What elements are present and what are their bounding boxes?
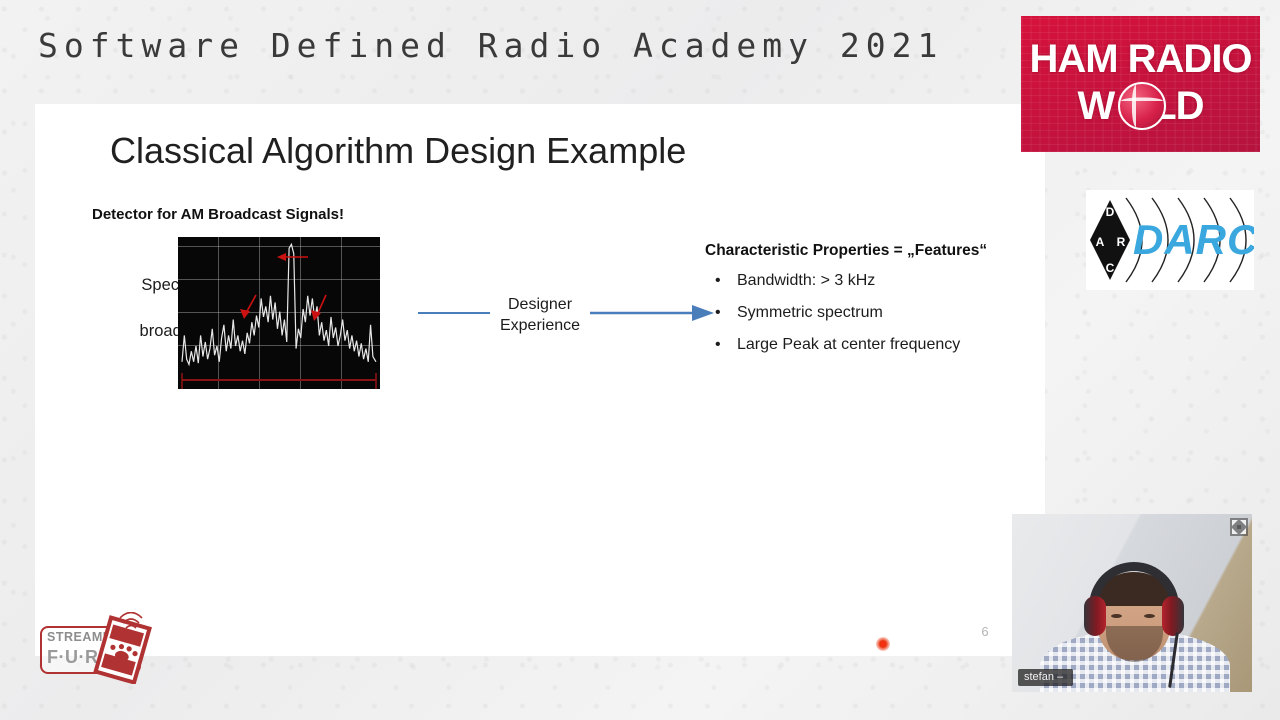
slide-number: 6 <box>955 624 1015 639</box>
feature-item: •Bandwidth: > 3 kHz <box>715 272 875 290</box>
flow-arrow-right <box>590 304 715 322</box>
ham-logo-line-1: HAM RADIO <box>1021 37 1260 82</box>
svg-text:C: C <box>1106 261 1115 275</box>
globe-icon <box>1118 82 1166 130</box>
feature-item: •Symmetric spectrum <box>715 304 883 322</box>
participant-eye-right <box>1144 614 1155 618</box>
annotation-arrow-peak-head <box>277 253 286 261</box>
darc-logo: D A R C DARC <box>1086 190 1254 290</box>
svg-text:A: A <box>1096 235 1105 249</box>
annotation-arrow-right-line <box>317 295 326 315</box>
bullet-icon: • <box>715 272 737 290</box>
bullet-icon: • <box>715 336 737 354</box>
feature-item: •Large Peak at center frequency <box>715 336 960 354</box>
presentation-screen: Software Defined Radio Academy 2021 Clas… <box>0 0 1280 720</box>
film-strip-icon <box>40 612 165 684</box>
flow-label-line-2: Experience <box>490 315 590 336</box>
svg-text:R: R <box>1117 235 1126 249</box>
headphones-earcup-left <box>1084 596 1106 636</box>
streaming-furs-logo: STREAMING F·U·R·S <box>40 612 165 684</box>
ham-radio-world-logo: HAM RADIO W RLD <box>1021 16 1260 152</box>
bullet-icon: • <box>715 304 737 322</box>
spectrum-chart <box>178 237 380 389</box>
fullscreen-icon[interactable] <box>1230 518 1248 536</box>
laser-pointer-dot <box>876 637 890 651</box>
svg-text:D: D <box>1106 205 1115 219</box>
flow-label-line-1: Designer <box>490 294 590 315</box>
annotation-arrow-left-line <box>246 295 256 313</box>
slide-subtitle: Detector for AM Broadcast Signals! <box>92 206 344 223</box>
page-title: Software Defined Radio Academy 2021 <box>38 26 943 65</box>
feature-label: Symmetric spectrum <box>737 304 883 321</box>
slide-canvas: Classical Algorithm Design Example Detec… <box>35 104 1045 656</box>
darc-wordmark: DARC <box>1133 216 1254 264</box>
annotation-arrow-right-head <box>311 310 321 321</box>
feature-label: Bandwidth: > 3 kHz <box>737 272 875 289</box>
annotation-arrow-left-head <box>240 309 250 319</box>
feature-label: Large Peak at center frequency <box>737 336 960 353</box>
slide-heading: Classical Algorithm Design Example <box>110 130 686 172</box>
spectrum-trace-svg <box>178 237 380 389</box>
flow-label: Designer Experience <box>490 294 590 336</box>
features-heading: Characteristic Properties = „Features“ <box>705 242 987 260</box>
participant-eye-left <box>1111 614 1122 618</box>
headphones-earcup-right <box>1162 596 1184 636</box>
participant-name-label: stefan – <box>1018 669 1073 686</box>
webcam-tile[interactable]: stefan – <box>1012 514 1252 692</box>
flow-line-left <box>418 312 490 314</box>
spectrum-trace <box>182 244 376 364</box>
